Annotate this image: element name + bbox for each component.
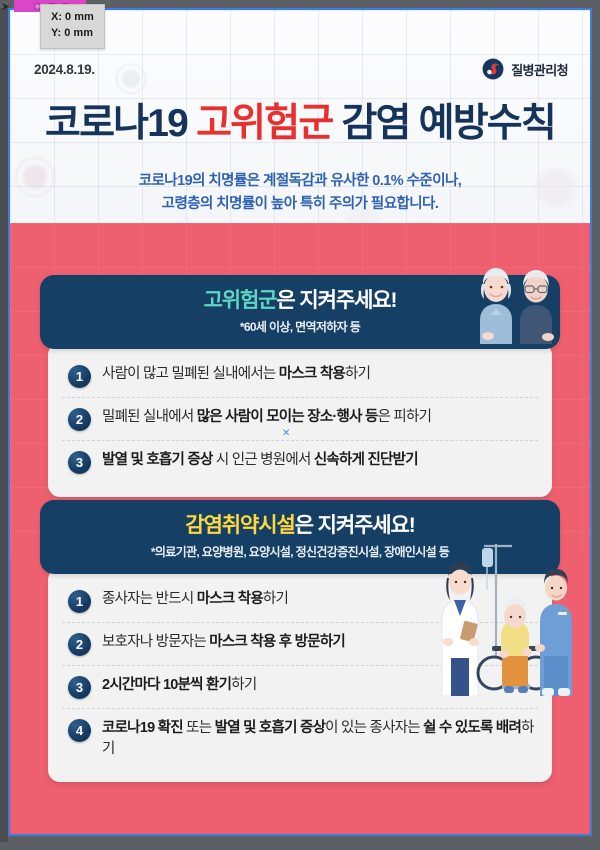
panel-footnote: *60세 이상, 면역저하자 등	[56, 318, 544, 335]
agency-name: 질병관리청	[511, 60, 568, 79]
panel-high-risk-group: 고위험군은 지켜주세요! *60세 이상, 면역저하자 등 1 사람이 많고 밀…	[40, 275, 560, 497]
coordinate-tooltip: X: 0 mm Y: 0 mm	[40, 4, 105, 49]
list-item-number: 3	[68, 676, 91, 699]
page-title: 코로나19 고위험군 감염 예방수칙	[10, 102, 590, 146]
list-item-text: 밀폐된 실내에서 많은 사람이 모이는 장소·행사 등은 피하기	[102, 407, 431, 428]
title-part-1: 코로나19	[45, 102, 187, 145]
subtitle-line-2: 고령층의 치명률이 높아 특히 주의가 필요합니다.	[10, 193, 590, 216]
cursor-pointer-icon: ➤	[1, 2, 10, 13]
cursor-crosshair-icon: ✕	[282, 429, 290, 439]
panel-title-highlight: 감염취약시설	[185, 514, 294, 537]
publish-date: 2024.8.19.	[34, 62, 95, 77]
panel-title: 고위험군은 지켜주세요!	[56, 288, 544, 313]
subtitle-line-1: 코로나19의 치명률은 계절독감과 유사한 0.1% 수준이나,	[10, 170, 590, 193]
panel-body: 1 사람이 많고 밀폐된 실내에서는 마스크 착용하기 2 밀폐된 실내에서 많…	[48, 343, 552, 497]
list-item-number: 4	[68, 719, 91, 742]
title-part-highlight: 고위험군	[196, 102, 332, 145]
panel-body: 1 종사자는 반드시 마스크 착용하기 2 보호자나 방문자는 마스크 착용 후…	[48, 568, 552, 782]
list-item-text: 발열 및 호흡기 증상 시 인근 병원에서 신속하게 진단받기	[102, 450, 418, 471]
panel-title-highlight: 고위험군	[204, 289, 277, 312]
kdca-taegeuk-icon	[482, 58, 504, 80]
left-gutter-panel	[0, 8, 8, 842]
poster-subtitle: 코로나19의 치명률은 계절독감과 유사한 0.1% 수준이나, 고령층의 치명…	[10, 170, 590, 217]
list-item-number: 2	[68, 633, 91, 656]
title-part-3: 감염 예방수칙	[341, 102, 555, 145]
panel-header: 감염취약시설은 지켜주세요! *의료기관, 요양병원, 요양시설, 정신건강증진…	[40, 500, 560, 574]
list-item-text: 종사자는 반드시 마스크 착용하기	[102, 589, 288, 610]
list-item-text: 보호자나 방문자는 마스크 착용 후 방문하기	[102, 632, 345, 653]
list-item: 1 사람이 많고 밀폐된 실내에서는 마스크 착용하기	[62, 355, 538, 398]
coordinate-y: Y: 0 mm	[51, 26, 94, 42]
list-item-text: 2시간마다 10분씩 환기하기	[102, 675, 256, 696]
list-item-text: 코로나19 확진 또는 발열 및 호흡기 증상이 있는 종사자는 쉴 수 있도록…	[102, 718, 536, 759]
panel-header: 고위험군은 지켜주세요! *60세 이상, 면역저하자 등	[40, 275, 560, 349]
panel-footnote: *의료기관, 요양병원, 요양시설, 정신건강증진시설, 장애인시설 등	[56, 543, 544, 560]
list-item: 4 코로나19 확진 또는 발열 및 호흡기 증상이 있는 종사자는 쉴 수 있…	[62, 709, 538, 768]
list-item-number: 1	[68, 590, 91, 613]
list-item: 2 보호자나 방문자는 마스크 착용 후 방문하기	[62, 623, 538, 666]
list-item-number: 1	[68, 365, 91, 388]
panel-title-rest: 은 지켜주세요!	[295, 514, 415, 537]
list-item: 3 발열 및 호흡기 증상 시 인근 병원에서 신속하게 진단받기	[62, 441, 538, 483]
list-item-number: 3	[68, 451, 91, 474]
design-app-canvas: ➤ 2024.8.19. 질병관리청	[0, 0, 600, 850]
list-item-text: 사람이 많고 밀폐된 실내에서는 마스크 착용하기	[102, 364, 370, 385]
coordinate-x: X: 0 mm	[51, 10, 94, 26]
list-item-number: 2	[68, 408, 91, 431]
poster-header: 2024.8.19. 질병관리청	[10, 58, 590, 80]
list-item: 2 밀폐된 실내에서 많은 사람이 모이는 장소·행사 등은 피하기	[62, 398, 538, 441]
panel-vulnerable-facility: 감염취약시설은 지켜주세요! *의료기관, 요양병원, 요양시설, 정신건강증진…	[40, 500, 560, 782]
panel-title: 감염취약시설은 지켜주세요!	[56, 513, 544, 538]
list-item: 3 2시간마다 10분씩 환기하기	[62, 666, 538, 709]
list-item: 1 종사자는 반드시 마스크 착용하기	[62, 580, 538, 623]
panel-title-rest: 은 지켜주세요!	[276, 289, 396, 312]
poster-artboard[interactable]: 2024.8.19. 질병관리청 코로나19 고위험군 감염 예방수칙 코로나1…	[10, 10, 590, 834]
agency-logo: 질병관리청	[482, 58, 568, 80]
